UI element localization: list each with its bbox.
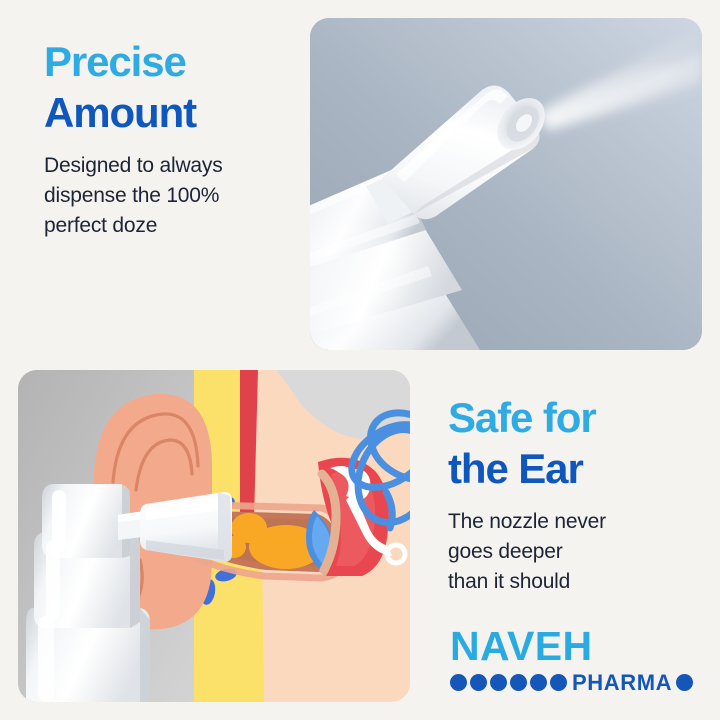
- logo-dot-icon: [676, 674, 693, 691]
- logo-dot-icon: [550, 674, 567, 691]
- precise-headline-line-2: Amount: [44, 87, 294, 138]
- precise-body-line-1: Designed to always: [44, 151, 294, 181]
- logo-dot-icon: [510, 674, 527, 691]
- logo-dot-icon: [450, 674, 467, 691]
- logo-dot-icon: [470, 674, 487, 691]
- safe-headline-line-2: the Ear: [448, 443, 696, 494]
- precise-amount-body-copy: Designed to always dispense the 100% per…: [44, 151, 294, 241]
- infographic-canvas: Precise Amount Designed to always dispen…: [0, 0, 720, 720]
- nozzle-spray-photo-panel: [310, 18, 702, 350]
- precise-headline-line-1: Precise: [44, 36, 294, 87]
- safe-body-line-1: The nozzle never: [448, 507, 696, 537]
- ear-anatomy-illustration: [18, 370, 410, 702]
- precise-body-line-3: perfect doze: [44, 211, 294, 241]
- safe-for-ear-body-copy: The nozzle never goes deeper than it sho…: [448, 507, 696, 597]
- safe-for-ear-text-block: Safe for the Ear The nozzle never goes d…: [448, 392, 696, 597]
- safe-body-line-3: than it should: [448, 567, 696, 597]
- logo-dot-icon: [490, 674, 507, 691]
- logo-dot-icon: [530, 674, 547, 691]
- logo-wordmark-naveh: NAVEH: [450, 626, 660, 667]
- naveh-pharma-logo: NAVEH PHARMA: [450, 626, 660, 692]
- logo-sub-row: PHARMA: [450, 673, 660, 692]
- logo-subtext-pharma: PHARMA: [572, 673, 672, 692]
- ear-anatomy-diagram-panel: [18, 370, 410, 702]
- precise-body-line-2: dispense the 100%: [44, 181, 294, 211]
- nozzle-spray-illustration: [310, 18, 702, 350]
- safe-for-ear-headline: Safe for the Ear: [448, 392, 696, 494]
- safe-body-line-2: goes deeper: [448, 537, 696, 567]
- safe-headline-line-1: Safe for: [448, 392, 696, 443]
- precise-amount-text-block: Precise Amount Designed to always dispen…: [44, 36, 294, 241]
- precise-amount-headline: Precise Amount: [44, 36, 294, 138]
